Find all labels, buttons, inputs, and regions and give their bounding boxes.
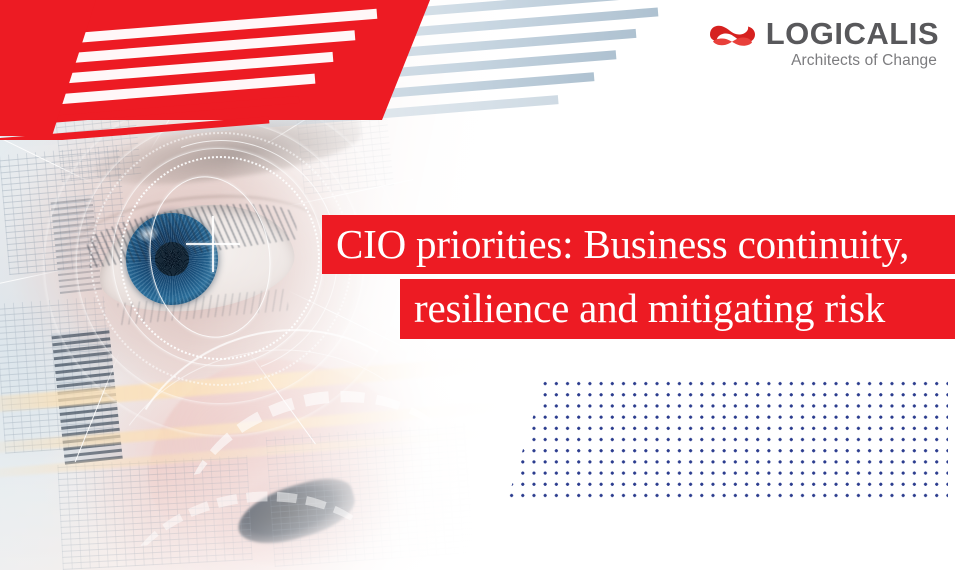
- page-title-line-1: CIO priorities: Business continuity,: [322, 215, 955, 274]
- logicalis-ribbon-icon: [708, 19, 758, 49]
- logicalis-tagline: Architects of Change: [701, 52, 939, 70]
- dot-grid-icon: [506, 378, 948, 504]
- red-diagonal-stripes-graphic: [0, 0, 470, 140]
- logicalis-wordmark: LOGICALIS: [766, 18, 939, 50]
- marketing-banner: CIO priorities: Business continuity, res…: [0, 0, 955, 570]
- logicalis-logo[interactable]: LOGICALIS Architects of Change: [701, 18, 939, 70]
- page-title-line-2: resilience and mitigating risk: [400, 279, 955, 339]
